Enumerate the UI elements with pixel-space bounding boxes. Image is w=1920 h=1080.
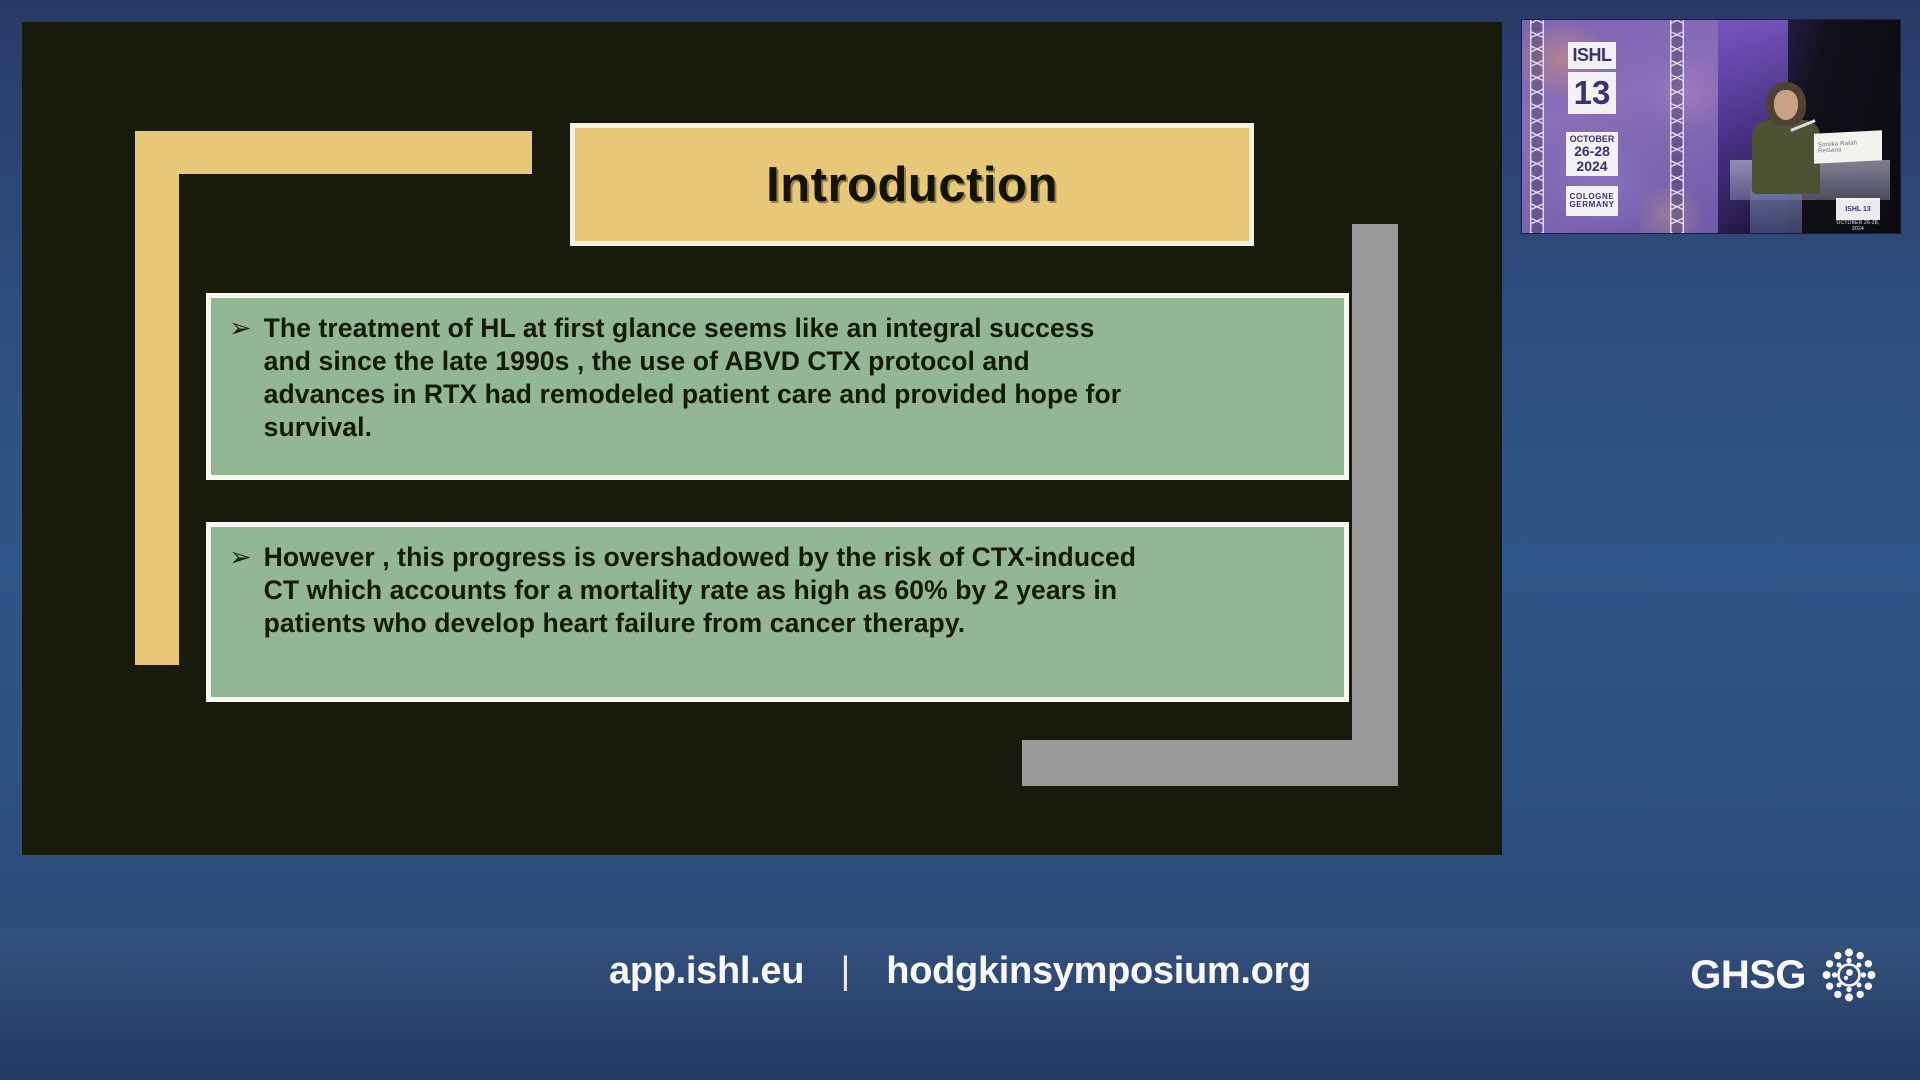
banner-date-days: 26-28 xyxy=(1574,144,1610,158)
stage-event-badge: ISHL 13 xyxy=(1836,198,1880,220)
ghsg-wordmark: GHSG xyxy=(1690,953,1806,998)
footer-separator: | xyxy=(840,950,850,993)
truss-right xyxy=(1670,20,1684,233)
content-box-2: ➢ However , this progress is overshadowe… xyxy=(206,522,1349,702)
speaker-video-thumbnail[interactable]: ISHL 13 OCTOBER 26-28 2024 COLOGNE GERMA… xyxy=(1521,19,1901,234)
banner-event-abbr: ISHL xyxy=(1568,42,1616,69)
slide-title: Introduction xyxy=(766,157,1058,213)
gold-bracket-vertical xyxy=(135,131,179,665)
slide-title-banner: Introduction xyxy=(570,123,1254,246)
footer-url-group: app.ishl.eu | hodgkinsymposium.org xyxy=(0,950,1920,993)
footer-url-secondary[interactable]: hodgkinsymposium.org xyxy=(886,950,1311,992)
banner-country: GERMANY xyxy=(1569,201,1614,209)
nameplate-text: Soroka Rafah ReGana xyxy=(1818,139,1882,154)
speaker-body xyxy=(1752,120,1820,194)
banner-date-year: 2024 xyxy=(1576,159,1607,173)
bullet-text-1: The treatment of HL at first glance seem… xyxy=(264,312,1122,444)
banner-date: OCTOBER 26-28 2024 xyxy=(1566,132,1618,176)
presentation-viewer: Introduction ➢ The treatment of HL at fi… xyxy=(0,0,1920,1080)
nameplate: Soroka Rafah ReGana xyxy=(1814,130,1882,164)
footer-bar: app.ishl.eu | hodgkinsymposium.org GHSG xyxy=(0,928,1920,1080)
arrow-bullet-icon: ➢ xyxy=(229,312,252,345)
lectern-base xyxy=(1750,188,1802,234)
ghsg-cell-icon xyxy=(1822,948,1876,1002)
gray-bracket-vertical xyxy=(1352,224,1398,786)
content-box-1: ➢ The treatment of HL at first glance se… xyxy=(206,293,1349,480)
speaker-face xyxy=(1774,90,1798,120)
stage-event-badge-subtitle: OCTOBER 26-28, 2024 xyxy=(1836,220,1880,229)
gray-bracket-horizontal xyxy=(1022,740,1398,786)
banner-location: COLOGNE GERMANY xyxy=(1566,186,1618,216)
truss-left xyxy=(1530,20,1544,233)
banner-edition-number: 13 xyxy=(1568,72,1616,114)
slide-canvas: Introduction ➢ The treatment of HL at fi… xyxy=(22,22,1502,855)
bullet-item: ➢ The treatment of HL at first glance se… xyxy=(229,312,1322,444)
event-banner-wall xyxy=(1522,20,1718,233)
gold-bracket-horizontal xyxy=(135,131,532,174)
footer-url-primary[interactable]: app.ishl.eu xyxy=(609,950,804,992)
arrow-bullet-icon: ➢ xyxy=(229,541,252,574)
bullet-item: ➢ However , this progress is overshadowe… xyxy=(229,541,1322,640)
bullet-text-2: However , this progress is overshadowed … xyxy=(264,541,1136,640)
ghsg-logo: GHSG xyxy=(1690,948,1876,1002)
